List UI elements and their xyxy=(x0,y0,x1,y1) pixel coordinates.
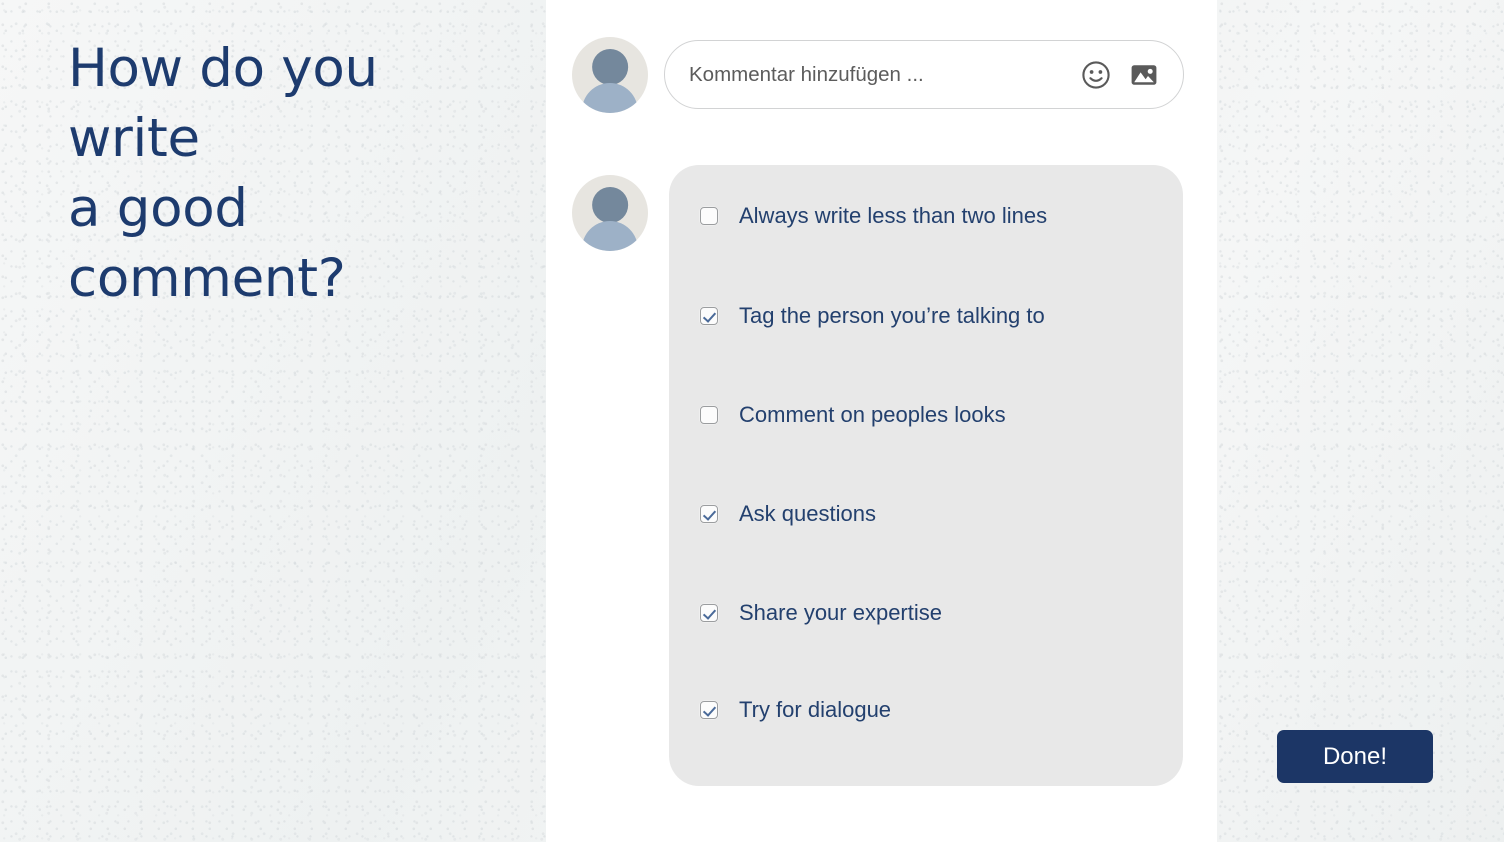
checklist-item-label: Share your expertise xyxy=(739,602,942,624)
checklist-item-label: Tag the person you’re talking to xyxy=(739,305,1045,327)
emoji-icon[interactable] xyxy=(1079,58,1113,92)
checklist-item-label: Comment on peoples looks xyxy=(739,404,1006,426)
checkbox[interactable] xyxy=(700,505,718,523)
checklist-card: Always write less than two lines Tag the… xyxy=(669,165,1183,786)
avatar-head xyxy=(592,187,628,223)
checkbox[interactable] xyxy=(700,207,718,225)
done-button[interactable]: Done! xyxy=(1277,730,1433,783)
image-icon[interactable] xyxy=(1127,58,1161,92)
avatar xyxy=(572,175,648,251)
avatar-body xyxy=(582,83,638,113)
avatar xyxy=(572,37,648,113)
checklist-item[interactable]: Try for dialogue xyxy=(700,699,891,721)
checklist-item[interactable]: Tag the person you’re talking to xyxy=(700,305,1045,327)
checkbox[interactable] xyxy=(700,604,718,622)
checkbox[interactable] xyxy=(700,701,718,719)
checklist-item[interactable]: Share your expertise xyxy=(700,602,942,624)
checkbox[interactable] xyxy=(700,406,718,424)
checklist-item[interactable]: Always write less than two lines xyxy=(700,205,1047,227)
avatar-body xyxy=(582,221,638,251)
checklist-item[interactable]: Ask questions xyxy=(700,503,876,525)
page-title: How do you write a good comment? xyxy=(68,34,518,314)
comment-composer[interactable] xyxy=(664,40,1184,109)
checklist-item[interactable]: Comment on peoples looks xyxy=(700,404,1006,426)
slide-canvas: How do you write a good comment? xyxy=(0,0,1504,842)
checklist-item-label: Try for dialogue xyxy=(739,699,891,721)
checklist-item-label: Ask questions xyxy=(739,503,876,525)
comment-input[interactable] xyxy=(689,41,1065,108)
avatar-head xyxy=(592,49,628,85)
checkbox[interactable] xyxy=(700,307,718,325)
checklist-item-label: Always write less than two lines xyxy=(739,205,1047,227)
